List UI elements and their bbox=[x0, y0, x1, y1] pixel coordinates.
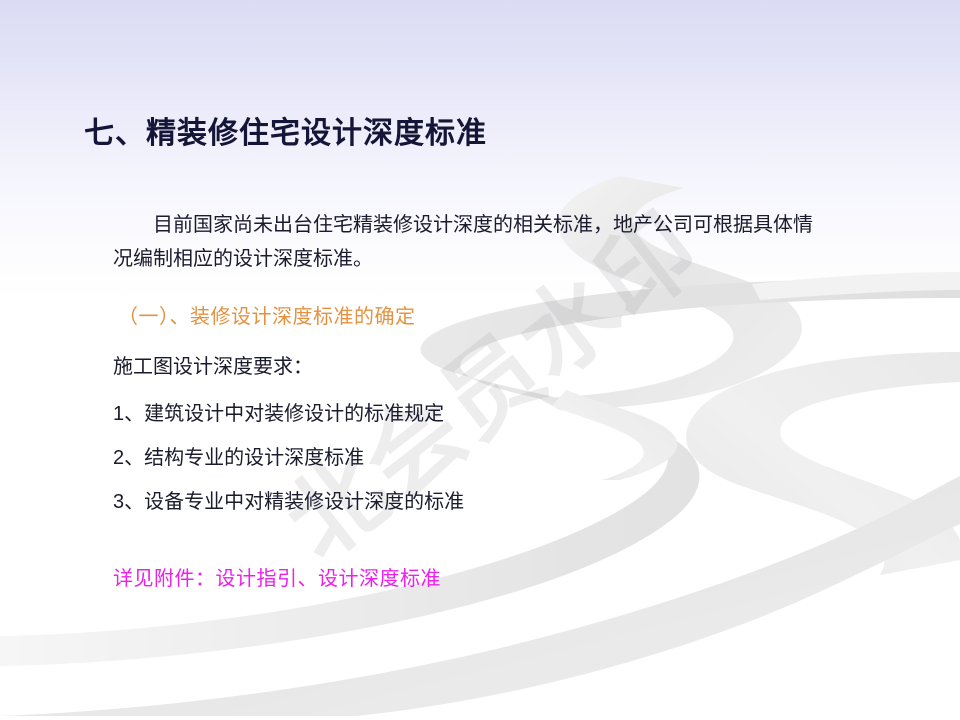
attachment-note: 详见附件：设计指引、设计深度标准 bbox=[113, 562, 441, 591]
section-heading: （一）、装修设计深度标准的确定 bbox=[118, 300, 416, 329]
requirements-list: 1、建筑设计中对装修设计的标准规定 2、结构专业的设计深度标准 3、设备专业中对… bbox=[113, 392, 813, 524]
slide-canvas: 北会员水印 七、精装修住宅设计深度标准 目前国家尚未出台住宅精装修设计深度的相关… bbox=[0, 0, 960, 720]
page-title: 七、精装修住宅设计深度标准 bbox=[84, 108, 487, 152]
list-item: 1、建筑设计中对装修设计的标准规定 bbox=[113, 392, 813, 436]
list-item: 3、设备专业中对精装修设计深度的标准 bbox=[113, 480, 813, 524]
requirements-lead-line: 施工图设计深度要求： bbox=[113, 350, 313, 379]
list-item: 2、结构专业的设计深度标准 bbox=[113, 436, 813, 480]
intro-paragraph: 目前国家尚未出台住宅精装修设计深度的相关标准，地产公司可根据具体情况编制相应的设… bbox=[113, 208, 813, 276]
slide-content: 七、精装修住宅设计深度标准 目前国家尚未出台住宅精装修设计深度的相关标准，地产公… bbox=[0, 0, 960, 720]
